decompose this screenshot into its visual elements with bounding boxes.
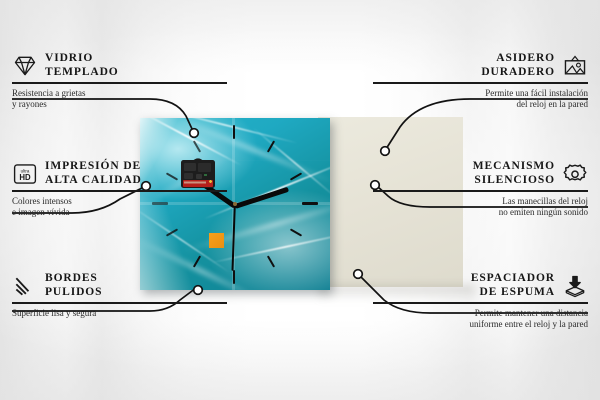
tick-mark — [290, 228, 302, 236]
feature-title-2: SILENCIOSO — [473, 174, 555, 188]
feature-asidero-duradero: ASIDERO DURADERO Permite una fácil insta… — [373, 52, 588, 110]
foam-spacer — [209, 233, 224, 248]
infographic-canvas: VIDRIO TEMPLADO Resistencia a grietas y … — [0, 0, 600, 400]
divider — [373, 302, 588, 304]
foam-spacer-icon — [562, 274, 588, 298]
clock-center-pin — [233, 202, 237, 206]
feature-desc: Permite mantener una distancia — [373, 308, 588, 319]
tick-mark — [302, 202, 318, 205]
feature-title: BORDES — [45, 272, 102, 286]
feature-title: VIDRIO — [45, 52, 119, 66]
feature-title: ASIDERO — [481, 52, 555, 66]
feature-bordes-pulidos: BORDES PULIDOS Superficie lisa y segura — [12, 272, 227, 319]
feature-desc: Superficie lisa y segura — [12, 308, 227, 319]
feature-desc: Las manecillas del reloj — [373, 196, 588, 207]
feature-desc-2: y rayones — [12, 99, 227, 110]
feature-title-2: TEMPLADO — [45, 66, 119, 80]
feature-title-2: ALTA CALIDAD — [45, 174, 142, 188]
divider — [12, 302, 227, 304]
feature-desc-2: no emiten ningún sonido — [373, 207, 588, 218]
diamond-icon — [12, 54, 38, 78]
feature-title-2: DURADERO — [481, 66, 555, 80]
feature-title-2: PULIDOS — [45, 286, 102, 300]
feature-title: MECANISMO — [473, 160, 555, 174]
feature-title: ESPACIADOR — [471, 272, 555, 286]
divider — [373, 82, 588, 84]
divider — [373, 190, 588, 192]
feature-desc: Permite una fácil instalación — [373, 88, 588, 99]
polished-edges-icon — [12, 274, 38, 298]
hanging-frame-icon — [562, 54, 588, 78]
feature-mecanismo-silencioso: MECANISMO SILENCIOSO Las manecillas del … — [373, 160, 588, 218]
feature-desc: Colores intensos — [12, 196, 227, 207]
ultra-hd-icon: ultra HD — [12, 162, 38, 186]
feature-desc-2: uniforme entre el reloj y la pared — [373, 319, 588, 330]
gear-icon — [562, 162, 588, 186]
minute-hand — [234, 187, 289, 209]
divider — [12, 190, 227, 192]
feature-vidrio-templado: VIDRIO TEMPLADO Resistencia a grietas y … — [12, 52, 227, 110]
svg-text:HD: HD — [19, 173, 31, 182]
feature-desc-2: del reloj en la pared — [373, 99, 588, 110]
feature-title: IMPRESIÓN DE — [45, 160, 142, 174]
feature-impresion-alta-calidad: ultra HD IMPRESIÓN DE ALTA CALIDAD Color… — [12, 160, 227, 218]
tick-mark — [267, 255, 275, 267]
feature-desc: Resistencia a grietas — [12, 88, 227, 99]
feature-desc-2: e imagen vívida — [12, 207, 227, 218]
divider — [12, 82, 227, 84]
feature-title-2: DE ESPUMA — [471, 286, 555, 300]
feature-espaciador-de-espuma: ESPACIADOR DE ESPUMA Permite mantener un… — [373, 272, 588, 330]
tick-mark — [233, 125, 235, 139]
tick-mark — [233, 270, 235, 284]
